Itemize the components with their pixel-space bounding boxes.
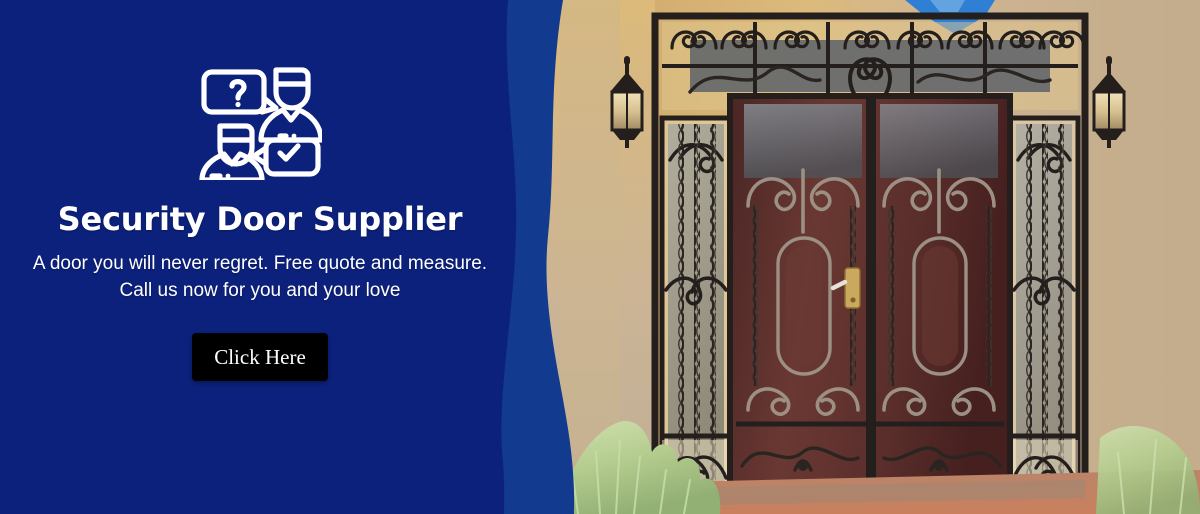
subtitle-line-1: A door you will never regret. Free quote… [33, 253, 487, 274]
subtitle-line-2: Call us now for you and your love [120, 280, 401, 301]
click-here-button[interactable]: Click Here [192, 333, 328, 381]
promo-banner: Security Door Supplier A door you will n… [0, 0, 1200, 514]
banner-subtitle: A door you will never regret. Free quote… [33, 251, 487, 305]
page-title: Security Door Supplier [58, 202, 463, 237]
consultation-qa-icon [198, 56, 322, 180]
banner-content: Security Door Supplier A door you will n… [0, 0, 520, 514]
